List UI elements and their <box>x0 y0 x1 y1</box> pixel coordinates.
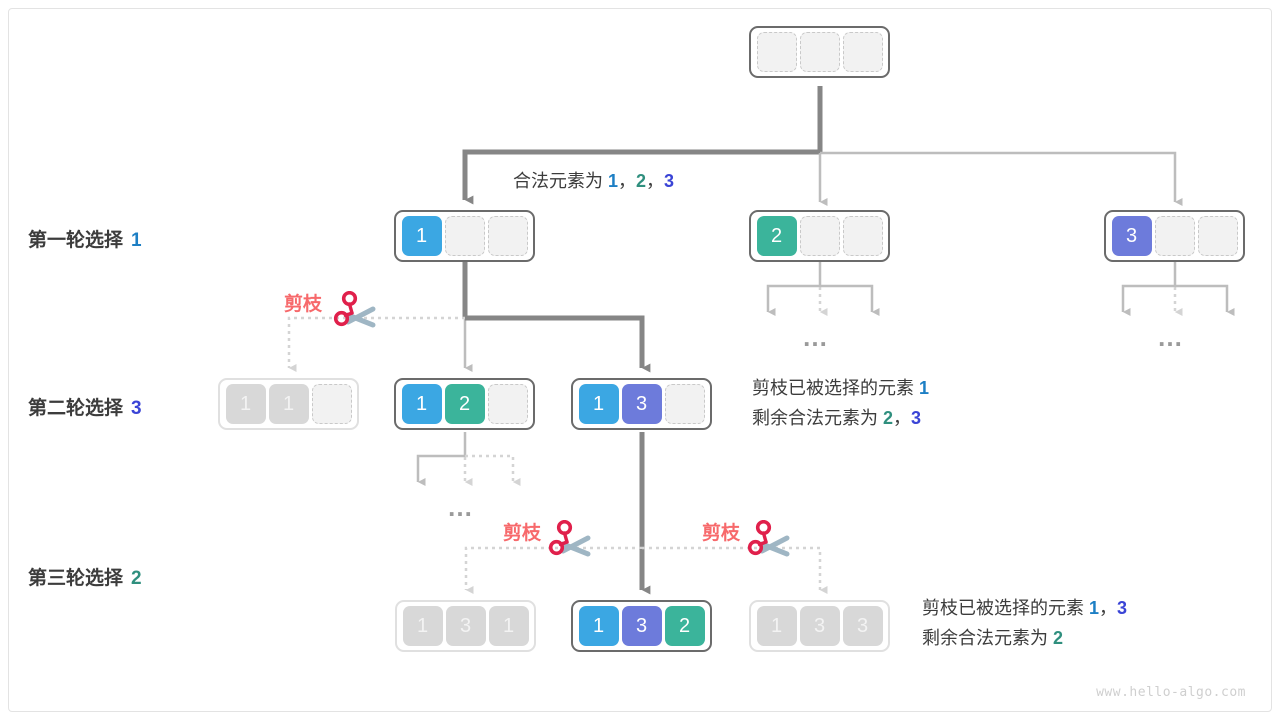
legal-note-sep-2: ， <box>646 171 664 191</box>
row-label-2-value: 3 <box>131 398 142 419</box>
cell-3 <box>1198 216 1238 256</box>
node-r1-3: 3 <box>1104 210 1245 262</box>
cell-2: 1 <box>269 384 309 424</box>
scissors-icon-1 <box>333 291 379 331</box>
row2-prune-note-line2: 剩余合法元素为 2，3 <box>752 403 929 433</box>
row-label-2-text: 第二轮选择 <box>28 398 123 419</box>
prune-label-3: 剪枝 <box>702 518 740 545</box>
cell-1 <box>757 32 797 72</box>
scissors-icon-3 <box>747 520 793 560</box>
diagram-canvas: 1 2 3 11 12 13 131 132 133 第一轮选择1 第二轮选择3… <box>0 0 1280 720</box>
row2-prune-note: 剪枝已被选择的元素 1 剩余合法元素为 2，3 <box>752 373 929 433</box>
legal-note-prefix: 合法元素为 <box>513 171 603 191</box>
row-label-3: 第三轮选择2 <box>28 563 142 590</box>
row2-note-line2-prefix: 剩余合法元素为 <box>752 408 878 428</box>
row2-note-line1-value-1: 1 <box>919 378 929 398</box>
cell-2 <box>800 32 840 72</box>
cell-3 <box>488 384 528 424</box>
cell-3 <box>312 384 352 424</box>
cell-1: 1 <box>579 384 619 424</box>
node-r1-2: 2 <box>749 210 890 262</box>
node-r1-1: 1 <box>394 210 535 262</box>
cell-1: 3 <box>1112 216 1152 256</box>
row-label-1-text: 第一轮选择 <box>28 230 123 251</box>
node-r2-1-pruned: 11 <box>218 378 359 430</box>
cell-2: 3 <box>446 606 486 646</box>
watermark: www.hello-algo.com <box>1096 685 1246 700</box>
scissors-icon-2 <box>548 520 594 560</box>
cell-3 <box>665 384 705 424</box>
prune-label-2: 剪枝 <box>503 518 541 545</box>
row3-note-line1-sep: ， <box>1099 598 1117 618</box>
row3-note-line1-value-1: 1 <box>1089 598 1099 618</box>
prune-label-1: 剪枝 <box>284 289 322 316</box>
node-r3-2: 132 <box>571 600 712 652</box>
node-r2-3: 13 <box>571 378 712 430</box>
row2-prune-note-line1: 剪枝已被选择的元素 1 <box>752 373 929 403</box>
ellipsis-2: … <box>1157 322 1188 353</box>
cell-1: 1 <box>226 384 266 424</box>
cell-1: 2 <box>757 216 797 256</box>
node-root <box>749 26 890 78</box>
row2-note-line2-sep: ， <box>893 408 911 428</box>
cell-1: 1 <box>579 606 619 646</box>
row2-note-line2-value-2: 3 <box>911 408 921 428</box>
legal-note-sep-1: ， <box>618 171 636 191</box>
row-label-2: 第二轮选择3 <box>28 393 142 420</box>
node-r2-2: 12 <box>394 378 535 430</box>
row2-note-line2-value-1: 2 <box>883 408 893 428</box>
row3-note-line2-value-1: 2 <box>1053 628 1063 648</box>
cell-3: 3 <box>843 606 883 646</box>
cell-3: 1 <box>489 606 529 646</box>
row3-note-line1-value-2: 3 <box>1117 598 1127 618</box>
cell-1: 1 <box>757 606 797 646</box>
row-label-3-value: 2 <box>131 568 142 589</box>
cell-3: 2 <box>665 606 705 646</box>
cell-2: 3 <box>800 606 840 646</box>
cell-2 <box>1155 216 1195 256</box>
legal-note-value-1: 1 <box>608 171 618 191</box>
cell-2 <box>445 216 485 256</box>
cell-3 <box>488 216 528 256</box>
legal-note-value-2: 2 <box>636 171 646 191</box>
cell-2: 3 <box>622 384 662 424</box>
cell-1: 1 <box>402 216 442 256</box>
row3-prune-note-line1: 剪枝已被选择的元素 1，3 <box>922 593 1127 623</box>
row3-prune-note: 剪枝已被选择的元素 1，3 剩余合法元素为 2 <box>922 593 1127 653</box>
legal-note-value-3: 3 <box>664 171 674 191</box>
cell-3 <box>843 32 883 72</box>
cell-3 <box>843 216 883 256</box>
row-label-1: 第一轮选择1 <box>28 225 142 252</box>
ellipsis-3: … <box>447 492 478 523</box>
row-label-3-text: 第三轮选择 <box>28 568 123 589</box>
legal-elements-note: 合法元素为 1，2，3 <box>513 166 674 196</box>
ellipsis-1: … <box>802 322 833 353</box>
cell-1: 1 <box>403 606 443 646</box>
cell-2 <box>800 216 840 256</box>
row3-note-line2-prefix: 剩余合法元素为 <box>922 628 1048 648</box>
node-r3-3-pruned: 133 <box>749 600 890 652</box>
row3-note-line1-prefix: 剪枝已被选择的元素 <box>922 598 1084 618</box>
cell-2: 3 <box>622 606 662 646</box>
row2-note-line1-prefix: 剪枝已被选择的元素 <box>752 378 914 398</box>
node-r3-1-pruned: 131 <box>395 600 536 652</box>
cell-1: 1 <box>402 384 442 424</box>
row-label-1-value: 1 <box>131 230 142 251</box>
row3-prune-note-line2: 剩余合法元素为 2 <box>922 623 1127 653</box>
cell-2: 2 <box>445 384 485 424</box>
